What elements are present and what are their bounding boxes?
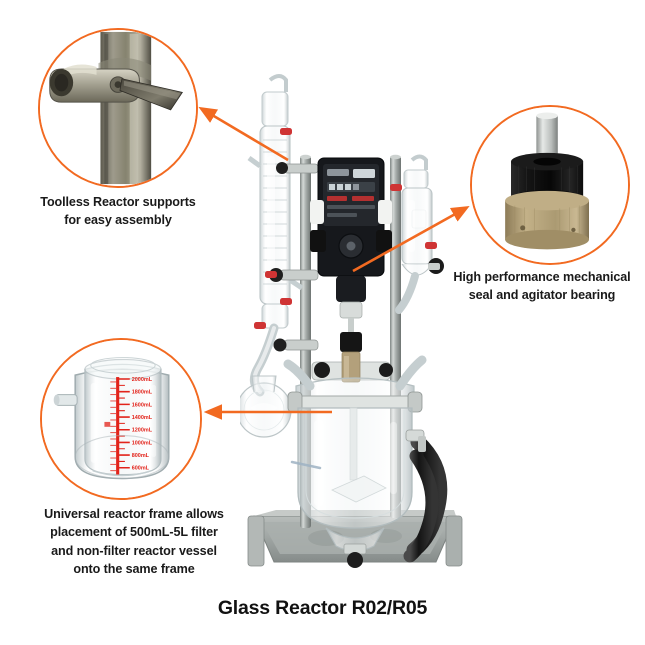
toolless-clamp-upper (276, 162, 318, 174)
jacketed-vessel-photo: 2000mL 1800mL 1600mL 1400mL 1200mL 1000m… (42, 340, 200, 498)
scale-label: 2000mL (132, 377, 153, 383)
caption-line: and non-filter reactor vessel (14, 542, 254, 560)
caption-line: seal and agitator bearing (438, 286, 645, 304)
toolless-clamp-mid (265, 268, 318, 282)
caption-universal-frame: Universal reactor frame allows placement… (14, 505, 254, 578)
infographic-stage: Toolless Reactor supports for easy assem… (0, 0, 645, 645)
caption-toolless-supports: Toolless Reactor supports for easy assem… (8, 193, 228, 230)
caption-mechanical-seal: High performance mechanical seal and agi… (438, 268, 645, 305)
callout-mechanical-seal (470, 105, 630, 265)
caption-line: Universal reactor frame allows (14, 505, 254, 523)
caption-line: for easy assembly (8, 211, 228, 229)
caption-line: High performance mechanical (438, 268, 645, 286)
caption-line: onto the same frame (14, 560, 254, 578)
receiver-flask (240, 376, 291, 437)
clamp-on-post-photo (40, 30, 196, 186)
scale-label: 600mL (132, 466, 150, 472)
scale-label: 1400mL (132, 415, 153, 421)
toolless-clamp-lower (274, 339, 319, 352)
scale-label: 800mL (132, 453, 150, 459)
scale-label: 1600mL (132, 402, 153, 408)
mechanical-seal (340, 332, 362, 382)
page-title: Glass Reactor R02/R05 (0, 597, 645, 620)
scale-label: 1000mL (132, 440, 153, 446)
callout-universal-frame: 2000mL 1800mL 1600mL 1400mL 1200mL 1000m… (40, 338, 202, 500)
caption-line: Toolless Reactor supports (8, 193, 228, 211)
caption-line: placement of 500mL-5L filter (14, 523, 254, 541)
seal-tan-housing (505, 191, 589, 250)
mechanical-seal-photo (472, 107, 628, 263)
scale-label: 1800mL (132, 390, 153, 396)
scale-label: 1200mL (132, 428, 153, 434)
callout-toolless-supports (38, 28, 198, 188)
glass-reactor-assembly (240, 70, 470, 580)
